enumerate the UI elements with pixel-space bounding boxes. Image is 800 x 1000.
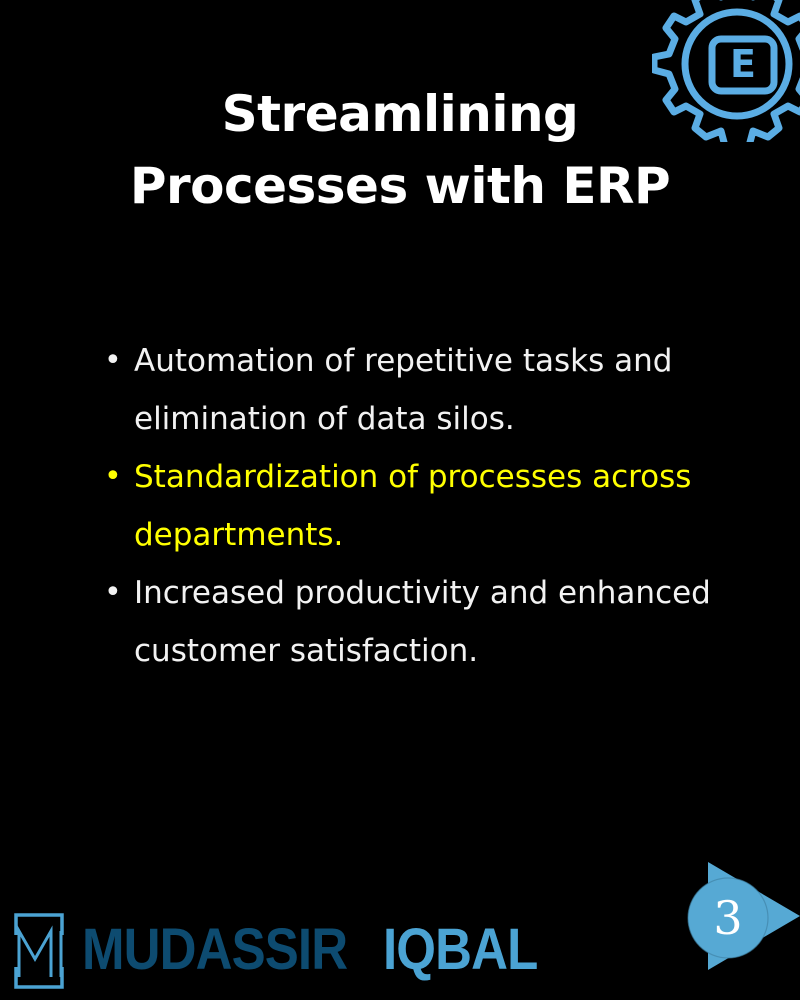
page-title: Streamlining Processes with ERP <box>60 78 740 222</box>
list-item: • Standardization of processes across de… <box>100 448 740 564</box>
page-number-badge: 3 <box>660 860 800 972</box>
bullet-dot-icon: • <box>100 332 134 390</box>
list-item: • Increased productivity and enhanced cu… <box>100 564 740 680</box>
monogram-mi-icon <box>8 909 70 991</box>
brand-name-primary: MUDASSIR <box>82 921 347 979</box>
title-line-2: Processes with ERP <box>60 150 740 222</box>
title-line-1: Streamlining <box>60 78 740 150</box>
page-number-text: 3 <box>700 890 756 946</box>
list-item-text: Standardization of processes across depa… <box>134 448 740 564</box>
slide-canvas: E Streamlining Processes with ERP • Auto… <box>0 0 800 1000</box>
bullet-dot-icon: • <box>100 564 134 622</box>
bullet-dot-icon: • <box>100 448 134 506</box>
bullet-list: • Automation of repetitive tasks and eli… <box>100 332 740 680</box>
list-item-text: Increased productivity and enhanced cust… <box>134 564 740 680</box>
brand-wordmark: MUDASSIR IQBAL <box>82 921 559 979</box>
brand-name-secondary: IQBAL <box>383 921 537 979</box>
list-item: • Automation of repetitive tasks and eli… <box>100 332 740 448</box>
brand-logo: MUDASSIR IQBAL <box>8 908 559 992</box>
list-item-text: Automation of repetitive tasks and elimi… <box>134 332 740 448</box>
